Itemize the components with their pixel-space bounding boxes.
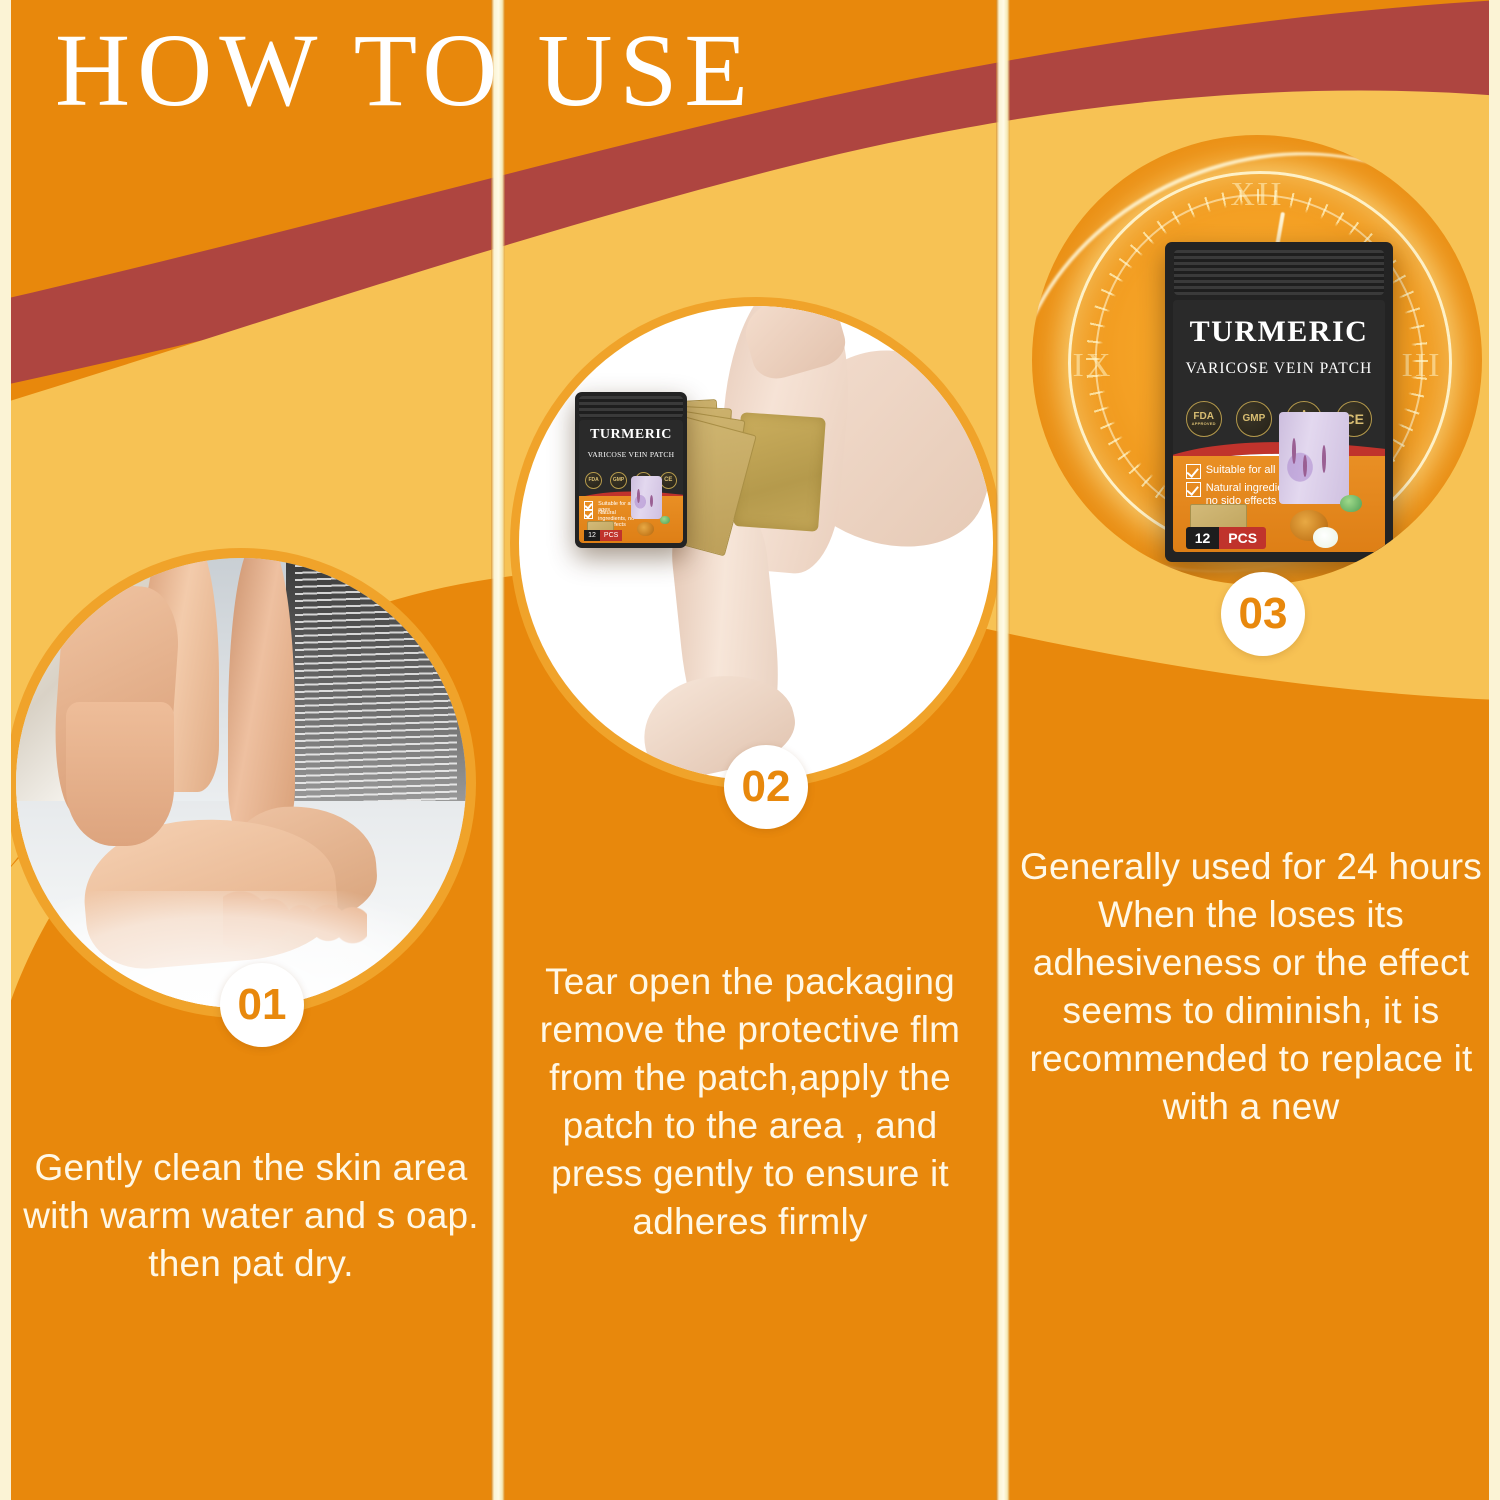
ce-badge-icon: CE <box>660 472 677 489</box>
gmp-badge-icon: GMP <box>1236 401 1272 437</box>
column-divider-2 <box>996 0 1010 1500</box>
green-leaf-dot-icon <box>1340 495 1361 512</box>
step-1-image <box>16 558 466 1008</box>
package-subtitle: VARICOSE VEIN PATCH <box>579 450 683 459</box>
count-unit: PCS <box>1219 527 1266 549</box>
green-check-circle-icon <box>1313 527 1338 547</box>
package-subtitle: VARICOSE VEIN PATCH <box>1173 360 1385 378</box>
package-count-label: 12 PCS <box>584 530 622 541</box>
vein-line <box>1322 445 1326 473</box>
vein-line <box>650 495 653 507</box>
fingers <box>66 702 174 846</box>
package-lower-panel: Suitable for all ages Natural ingredient… <box>579 496 683 543</box>
vein-illustration <box>1279 412 1349 504</box>
step-caption-1: Gently clean the skin area with warm wat… <box>19 1144 483 1288</box>
package-brand-name: TURMERIC <box>1173 315 1385 349</box>
water-spray <box>295 558 457 819</box>
step-caption-2: Tear open the packaging remove the prote… <box>513 958 987 1247</box>
step-number-badge-1: 01 <box>220 963 304 1047</box>
package-zip-seal <box>579 396 682 418</box>
step-column-3: XII III VI IX TURMERIC VARICOSE VEIN PAT… <box>1010 0 1489 1500</box>
applied-patch-on-calf <box>733 412 826 531</box>
package-brand-name: TURMERIC <box>579 427 683 443</box>
step-3-image: XII III VI IX TURMERIC VARICOSE VEIN PAT… <box>1032 135 1482 585</box>
step-2-image: TURMERIC VARICOSE VEIN PATCH FDA GMP ⚕ C… <box>519 306 993 780</box>
gmp-badge-icon: GMP <box>610 472 627 489</box>
fda-badge-sublabel: APPROVED <box>1192 422 1216 426</box>
how-to-use-infographic: HOW TO USE 01 Gently clean the skin area… <box>0 0 1500 1500</box>
package-zip-seal <box>1174 250 1384 295</box>
roman-numeral-iii: III <box>1402 347 1442 385</box>
product-package-large: TURMERIC VARICOSE VEIN PATCH FDA APPROVE… <box>1165 242 1393 562</box>
checkmark-icon <box>1186 464 1201 479</box>
frame-border-right <box>1489 0 1500 1500</box>
vein-line <box>1303 455 1307 477</box>
frame-border-left <box>0 0 11 1500</box>
column-divider-1 <box>491 0 505 1500</box>
legs-with-patch-photo: TURMERIC VARICOSE VEIN PATCH FDA GMP ⚕ C… <box>519 306 993 780</box>
checkmark-icon <box>584 510 593 519</box>
count-number: 12 <box>1186 527 1220 549</box>
package-lower-panel: Suitable for all ages Natural ingredient… <box>1173 456 1385 552</box>
product-package-small: TURMERIC VARICOSE VEIN PATCH FDA GMP ⚕ C… <box>575 392 687 548</box>
count-unit: PCS <box>600 530 622 541</box>
feet-in-shower-photo <box>16 558 466 1008</box>
checkmark-icon <box>1186 482 1201 497</box>
package-count-label: 12 PCS <box>1186 527 1266 549</box>
step-column-1: 01 Gently clean the skin area with warm … <box>11 0 491 1500</box>
roman-numeral-xii: XII <box>1230 176 1283 214</box>
step-number-badge-3: 03 <box>1221 572 1305 656</box>
turmeric-root-image <box>637 522 654 536</box>
package-face: TURMERIC VARICOSE VEIN PATCH FDA APPROVE… <box>1173 300 1385 553</box>
roman-numeral-ix: IX <box>1073 347 1113 385</box>
package-face: TURMERIC VARICOSE VEIN PATCH FDA GMP ⚕ C… <box>579 420 683 543</box>
checkmark-icon <box>584 501 593 510</box>
fda-badge-icon: FDA <box>585 472 602 489</box>
vein-line <box>637 489 640 503</box>
step-number-badge-2: 02 <box>724 745 808 829</box>
count-number: 12 <box>584 530 600 541</box>
page-title: HOW TO USE <box>55 16 755 125</box>
vein-line <box>1292 438 1296 464</box>
vein-illustration <box>631 476 662 519</box>
fda-badge-icon: FDA APPROVED <box>1186 401 1222 437</box>
step-column-2: TURMERIC VARICOSE VEIN PATCH FDA GMP ⚕ C… <box>505 0 996 1500</box>
step-caption-3: Generally used for 24 hours When the los… <box>1018 843 1484 1132</box>
back-leg <box>228 558 296 846</box>
green-leaf-dot-icon <box>660 516 669 524</box>
